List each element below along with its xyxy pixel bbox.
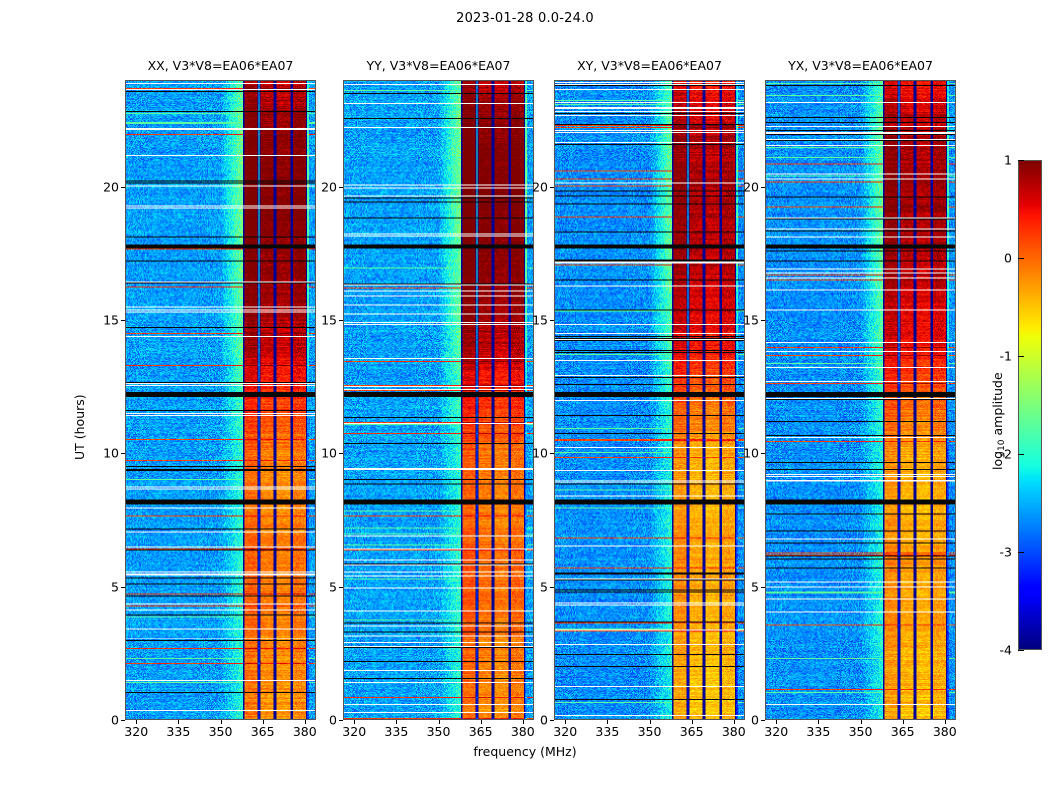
y-tick-label: 15: [309, 313, 337, 328]
x-axis-label: frequency (MHz): [0, 744, 1050, 759]
x-tick-label: 320: [124, 724, 148, 739]
colorbar-label-subscript: 10: [997, 439, 1007, 450]
x-tick-mark: [861, 720, 862, 724]
y-tick-label: 0: [520, 713, 548, 728]
y-tick-mark: [761, 453, 765, 454]
x-tick-label: 335: [595, 724, 619, 739]
x-tick-label: 320: [764, 724, 788, 739]
y-axis-label: UT (hours): [72, 394, 87, 460]
y-tick-label: 10: [309, 446, 337, 461]
x-tick-mark: [221, 720, 222, 724]
colorbar-tick-mark: [1018, 258, 1024, 259]
x-tick-label: 350: [638, 724, 662, 739]
x-tick-label: 335: [806, 724, 830, 739]
y-tick-mark: [339, 320, 343, 321]
x-tick-label: 320: [342, 724, 366, 739]
y-tick-label: 10: [91, 446, 119, 461]
y-tick-mark: [761, 320, 765, 321]
spectrogram-xx: [125, 80, 316, 720]
x-tick-mark: [305, 720, 306, 724]
panel-title-yx: YX, V3*V8=EA06*EA07: [725, 58, 996, 73]
y-tick-mark: [121, 320, 125, 321]
colorbar-tick-mark: [1018, 552, 1024, 553]
y-tick-mark: [121, 187, 125, 188]
spectrogram-yx: [765, 80, 956, 720]
y-tick-mark: [550, 320, 554, 321]
x-tick-mark: [692, 720, 693, 724]
figure-canvas: 2023-01-28 0.0-24.0 XX, V3*V8=EA06*EA07Y…: [0, 0, 1050, 800]
colorbar-tick-label: 1: [972, 153, 1012, 168]
x-tick-mark: [354, 720, 355, 724]
x-tick-label: 350: [209, 724, 233, 739]
y-tick-label: 20: [309, 179, 337, 194]
x-tick-label: 320: [553, 724, 577, 739]
y-tick-mark: [550, 453, 554, 454]
panel-xy: XY, V3*V8=EA06*EA07: [554, 80, 745, 720]
y-tick-mark: [339, 187, 343, 188]
panel-yx: YX, V3*V8=EA06*EA07: [765, 80, 956, 720]
colorbar: [1018, 160, 1042, 650]
figure-suptitle: 2023-01-28 0.0-24.0: [0, 11, 1050, 26]
y-tick-label: 15: [520, 313, 548, 328]
y-tick-label: 20: [731, 179, 759, 194]
y-tick-label: 10: [731, 446, 759, 461]
x-tick-label: 365: [891, 724, 915, 739]
x-tick-label: 365: [251, 724, 275, 739]
x-tick-mark: [776, 720, 777, 724]
x-tick-mark: [136, 720, 137, 724]
colorbar-tick-mark: [1018, 454, 1024, 455]
x-tick-label: 335: [384, 724, 408, 739]
spectrogram-image: [555, 81, 744, 719]
y-tick-label: 20: [520, 179, 548, 194]
y-tick-label: 5: [520, 579, 548, 594]
y-tick-label: 0: [731, 713, 759, 728]
colorbar-tick-label: -4: [972, 643, 1012, 658]
colorbar-label-main: log: [990, 451, 1005, 470]
y-tick-mark: [550, 187, 554, 188]
x-tick-label: 365: [680, 724, 704, 739]
x-tick-label: 335: [166, 724, 190, 739]
y-tick-label: 20: [91, 179, 119, 194]
x-tick-mark: [178, 720, 179, 724]
colorbar-label: log10 amplitude: [990, 372, 1007, 470]
y-tick-label: 15: [91, 313, 119, 328]
colorbar-tick-label: 0: [972, 251, 1012, 266]
y-tick-mark: [761, 187, 765, 188]
y-tick-label: 5: [309, 579, 337, 594]
y-tick-mark: [339, 587, 343, 588]
colorbar-tick-mark: [1018, 160, 1024, 161]
y-tick-mark: [761, 587, 765, 588]
y-tick-label: 15: [731, 313, 759, 328]
colorbar-tick-mark: [1018, 650, 1024, 651]
x-tick-label: 350: [427, 724, 451, 739]
spectrogram-image: [344, 81, 533, 719]
y-tick-mark: [550, 720, 554, 721]
y-tick-label: 5: [731, 579, 759, 594]
spectrogram-image: [126, 81, 315, 719]
colorbar-tick-mark: [1018, 356, 1024, 357]
colorbar-label-tail: amplitude: [990, 372, 1005, 439]
x-tick-mark: [439, 720, 440, 724]
spectrogram-xy: [554, 80, 745, 720]
x-tick-mark: [396, 720, 397, 724]
y-tick-label: 10: [520, 446, 548, 461]
y-tick-label: 0: [91, 713, 119, 728]
colorbar-tick-label: -1: [972, 349, 1012, 364]
x-tick-mark: [903, 720, 904, 724]
panel-yy: YY, V3*V8=EA06*EA07: [343, 80, 534, 720]
x-tick-mark: [565, 720, 566, 724]
y-tick-mark: [339, 453, 343, 454]
y-tick-label: 5: [91, 579, 119, 594]
x-tick-mark: [481, 720, 482, 724]
x-tick-mark: [650, 720, 651, 724]
x-tick-mark: [263, 720, 264, 724]
x-tick-label: 365: [469, 724, 493, 739]
y-tick-mark: [121, 720, 125, 721]
y-tick-mark: [339, 720, 343, 721]
y-tick-mark: [121, 453, 125, 454]
x-tick-label: 380: [933, 724, 957, 739]
y-tick-mark: [550, 587, 554, 588]
y-tick-label: 0: [309, 713, 337, 728]
x-tick-mark: [607, 720, 608, 724]
panel-xx: XX, V3*V8=EA06*EA07: [125, 80, 316, 720]
spectrogram-yy: [343, 80, 534, 720]
x-tick-label: 350: [849, 724, 873, 739]
y-tick-mark: [761, 720, 765, 721]
y-tick-mark: [121, 587, 125, 588]
x-tick-mark: [945, 720, 946, 724]
x-tick-mark: [818, 720, 819, 724]
spectrogram-image: [766, 81, 955, 719]
colorbar-tick-label: -3: [972, 545, 1012, 560]
